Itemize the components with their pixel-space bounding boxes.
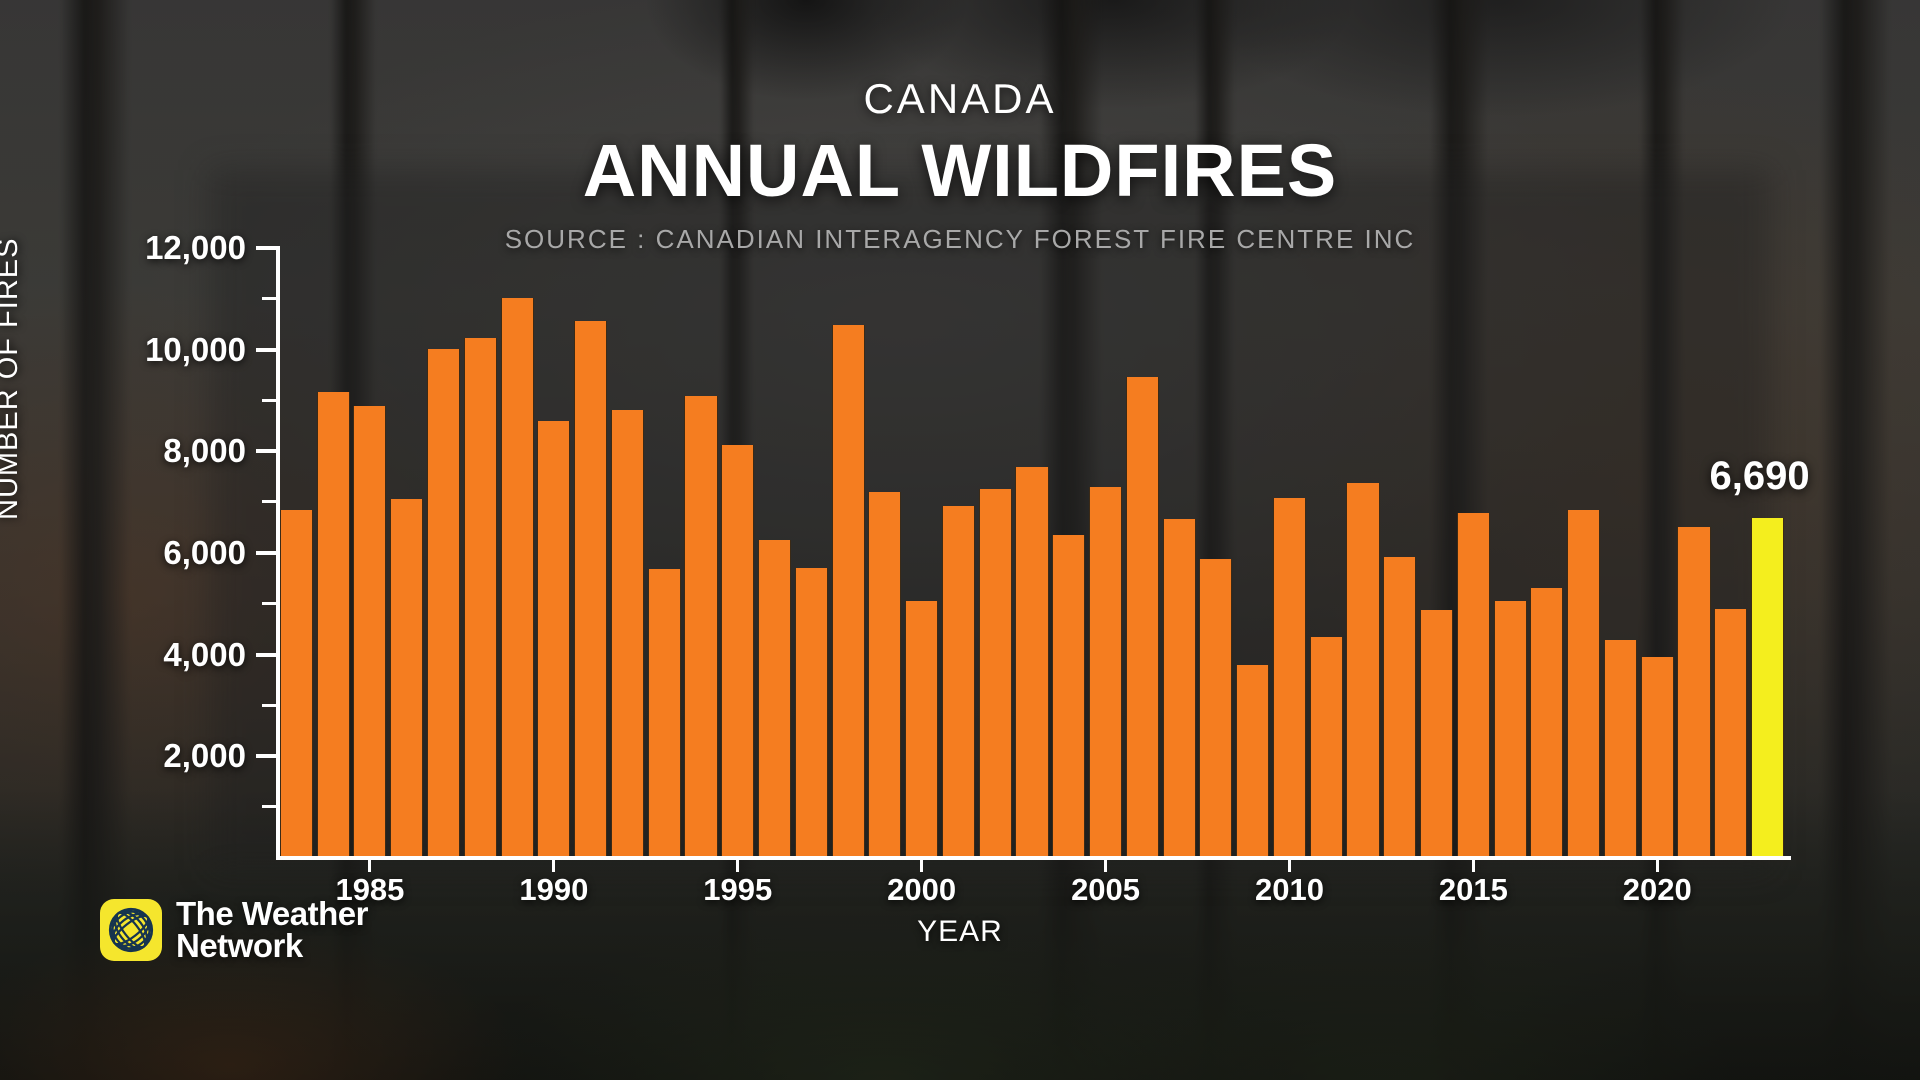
bar-1986[interactable] [390,499,423,858]
bar-2017[interactable] [1530,588,1563,858]
x-axis-tick [552,860,555,872]
y-axis-minor-tick [262,399,280,402]
y-axis-tick-label: 12,000 [145,229,246,267]
bar-1996[interactable] [758,540,791,858]
y-axis-tick-label: 2,000 [163,737,246,775]
bar-2022[interactable] [1714,609,1747,858]
bar-1993[interactable] [648,569,681,858]
bar-2002[interactable] [979,489,1012,858]
y-axis-major-tick [256,551,280,555]
y-axis-tick-label: 4,000 [163,636,246,674]
bar-1994[interactable] [684,396,717,858]
bar-1989[interactable] [501,298,534,858]
bar-2018[interactable] [1567,510,1600,858]
y-axis-minor-tick [262,500,280,503]
bar-1997[interactable] [795,568,828,858]
x-axis-tick-label: 2015 [1439,872,1508,908]
y-axis-tick-label: 10,000 [145,331,246,369]
x-axis-tick [736,860,739,872]
bar-2000[interactable] [905,601,938,858]
y-axis-tick-label: 8,000 [163,432,246,470]
x-axis-tick-label: 2005 [1071,872,1140,908]
bar-1999[interactable] [868,492,901,859]
y-axis-minor-tick [262,805,280,808]
logo-wordmark: The Weather Network [176,898,368,963]
bar-2006[interactable] [1126,377,1159,858]
highlight-value-label: 6,690 [1710,454,1810,499]
bar-1995[interactable] [721,445,754,858]
x-axis-tick [1288,860,1291,872]
bar-1987[interactable] [427,349,460,858]
bar-1991[interactable] [574,321,607,858]
bar-2008[interactable] [1199,559,1232,858]
weather-network-globe-icon [100,899,162,961]
bar-2016[interactable] [1494,601,1527,858]
bar-2009[interactable] [1236,665,1269,858]
x-axis-tick-label: 2000 [887,872,956,908]
y-axis-major-tick [256,348,280,352]
logo-line-2: Network [176,930,368,962]
the-weather-network-logo: The Weather Network [100,898,368,963]
bar-2007[interactable] [1163,519,1196,858]
x-axis-tick [368,860,371,872]
logo-line-1: The Weather [176,898,368,930]
x-axis-line [276,856,1791,860]
bar-1988[interactable] [464,338,497,858]
y-axis-minor-tick [262,297,280,300]
bar-2013[interactable] [1383,557,1416,858]
bar-2019[interactable] [1604,640,1637,858]
y-axis-minor-tick [262,602,280,605]
y-axis-major-tick [256,754,280,758]
bar-2023[interactable] [1751,518,1784,858]
x-axis-tick [1104,860,1107,872]
y-axis-tick-label: 6,000 [163,534,246,572]
bar-1992[interactable] [611,410,644,858]
y-axis-major-tick [256,449,280,453]
bar-2010[interactable] [1273,498,1306,858]
x-axis-tick-label: 2020 [1623,872,1692,908]
bar-2015[interactable] [1457,513,1490,858]
y-axis-major-tick [256,246,280,250]
x-axis-tick [1472,860,1475,872]
bar-2012[interactable] [1346,483,1379,858]
x-axis-tick-label: 1990 [519,872,588,908]
bar-1983[interactable] [280,510,313,858]
bar-2003[interactable] [1015,467,1048,858]
bar-2004[interactable] [1052,535,1085,858]
y-axis-major-tick [256,653,280,657]
bar-2014[interactable] [1420,610,1453,858]
bar-2001[interactable] [942,506,975,858]
plot-area [278,248,1786,858]
bar-series [278,248,1786,858]
bar-2021[interactable] [1677,527,1710,858]
y-axis-minor-tick [262,704,280,707]
bar-2011[interactable] [1310,637,1343,858]
bar-2020[interactable] [1641,657,1674,858]
x-axis-tick-label: 2010 [1255,872,1324,908]
x-axis-tick [1656,860,1659,872]
bar-2005[interactable] [1089,487,1122,858]
bar-1990[interactable] [537,421,570,858]
y-axis-title: NUMBER OF FIRES [0,238,25,520]
x-axis-tick-label: 1995 [703,872,772,908]
bar-1984[interactable] [317,392,350,858]
bar-1998[interactable] [832,325,865,858]
x-axis-tick [920,860,923,872]
bar-1985[interactable] [353,406,386,858]
